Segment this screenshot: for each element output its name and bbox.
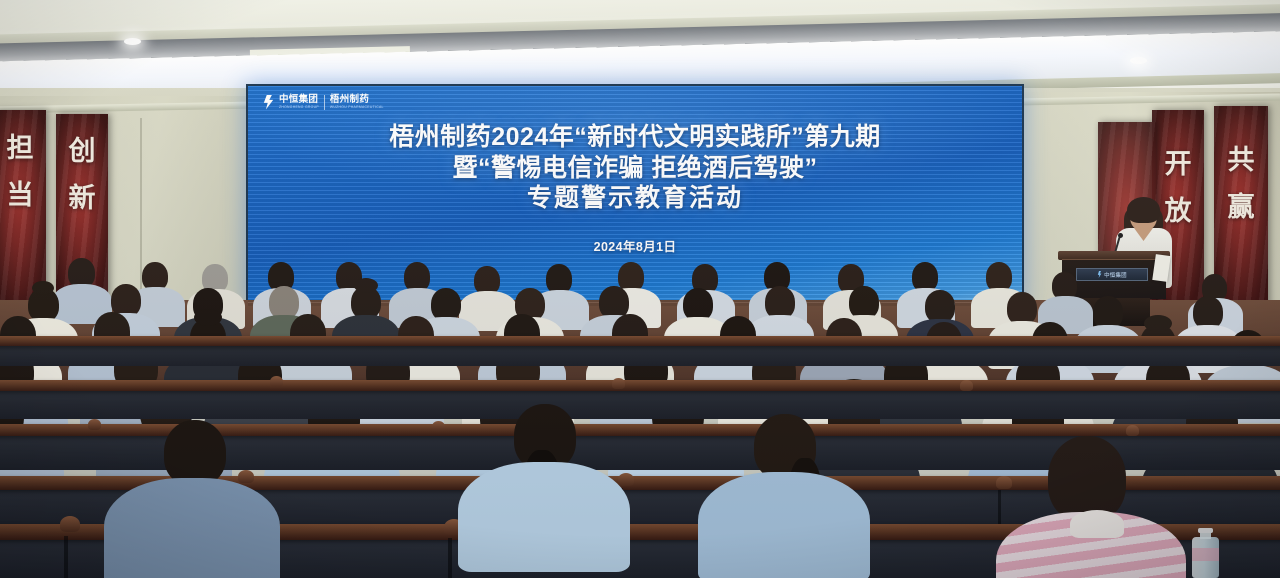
audience — [0, 0, 1280, 578]
person-head — [1048, 436, 1126, 522]
bottle-label — [1192, 548, 1219, 561]
bottle-cap — [1198, 528, 1213, 533]
person-shoulders — [698, 472, 870, 578]
person-shoulders — [458, 462, 630, 572]
person-collar — [1070, 510, 1124, 538]
person-head — [164, 420, 226, 486]
conference-hall-photo: 担 当 创 新 开 放 共 赢 中恒集团 ZHONGHENG GROUP 梧州制… — [0, 0, 1280, 578]
water-bottle — [1192, 528, 1219, 578]
person-shoulders — [104, 478, 280, 578]
